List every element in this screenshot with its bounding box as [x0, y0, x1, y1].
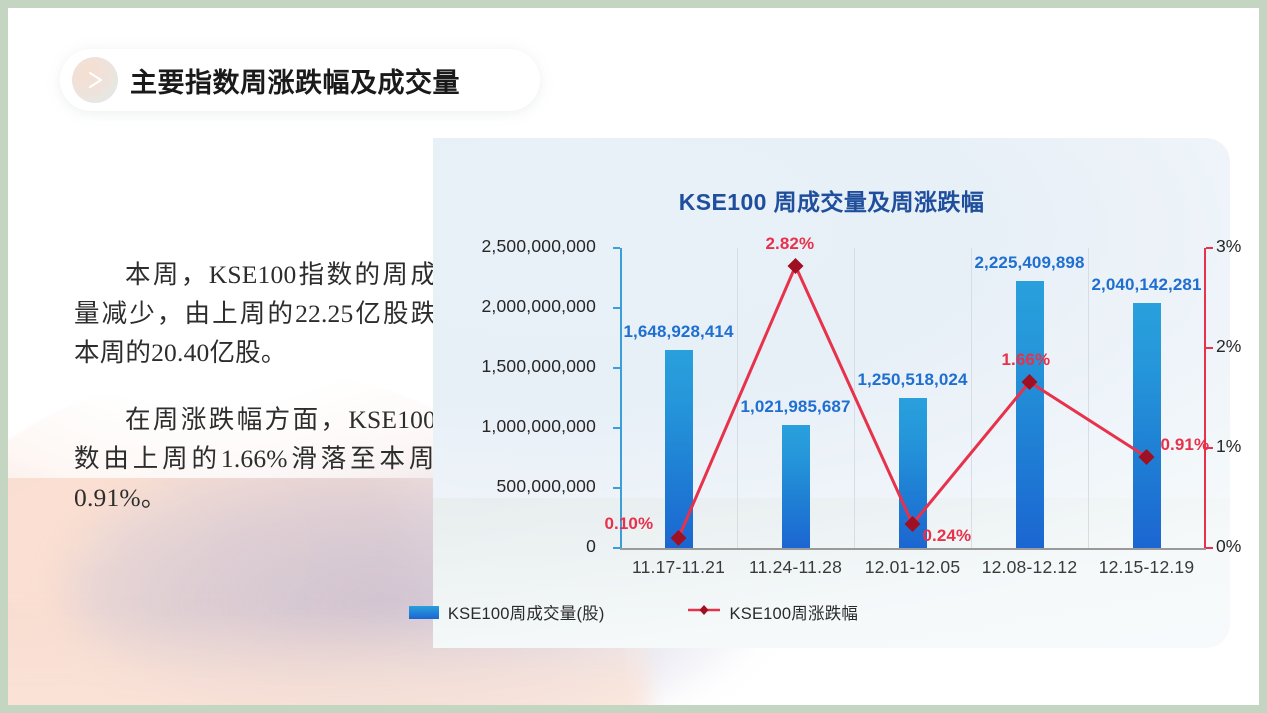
- y-axis-right-label: 2%: [1216, 336, 1241, 357]
- x-axis-category-label: 12.08-12.12: [971, 557, 1088, 578]
- line-value-label: 1.66%: [1002, 350, 1051, 370]
- y-axis-left-tick: [613, 427, 620, 429]
- line-value-label: 0.24%: [923, 526, 972, 546]
- y-axis-right-label: 3%: [1216, 236, 1241, 257]
- y-axis-left-tick: [613, 247, 620, 249]
- y-axis-left-label: 0: [8, 536, 608, 557]
- bar-value-label: 1,648,928,414: [579, 322, 779, 342]
- gridline-vertical: [971, 248, 972, 548]
- chevron-right-icon: [72, 57, 118, 103]
- y-axis-left-label: 1,500,000,000: [8, 356, 608, 377]
- y-axis-left-label: 1,000,000,000: [8, 416, 608, 437]
- y-axis-right-label: 1%: [1216, 436, 1241, 457]
- slide-title-pill: 主要指数周涨跌幅及成交量: [60, 49, 540, 111]
- legend-item-volume[interactable]: KSE100周成交量(股): [409, 600, 605, 624]
- bar-value-label: 2,225,409,898: [930, 253, 1130, 273]
- legend-item-change[interactable]: KSE100周涨跌幅: [687, 600, 859, 624]
- y-axis-left-tick: [613, 307, 620, 309]
- y-axis-left-line: [620, 248, 622, 549]
- y-axis-left-tick: [613, 547, 620, 549]
- bar-5[interactable]: [1133, 303, 1161, 548]
- line-value-label: 0.91%: [1161, 435, 1210, 455]
- x-axis-category-label: 12.01-12.05: [854, 557, 971, 578]
- slide-frame: 主要指数周涨跌幅及成交量 本周，KSE100指数的周成交量减少，由上周的22.2…: [0, 0, 1267, 713]
- x-axis-category-label: 11.24-11.28: [737, 557, 854, 578]
- x-axis-category-label: 12.15-12.19: [1088, 557, 1205, 578]
- y-axis-right-tick: [1206, 347, 1213, 349]
- chart-title: KSE100 周成交量及周涨跌幅: [433, 183, 1230, 217]
- bar-value-label: 1,250,518,024: [813, 370, 1013, 390]
- bar-value-label: 1,021,985,687: [696, 397, 896, 417]
- y-axis-left-tick: [613, 367, 620, 369]
- slide-canvas: 主要指数周涨跌幅及成交量 本周，KSE100指数的周成交量减少，由上周的22.2…: [8, 8, 1259, 705]
- y-axis-left-tick: [613, 487, 620, 489]
- y-axis-right-tick: [1206, 247, 1213, 249]
- bar-value-label: 2,040,142,281: [1047, 275, 1247, 295]
- page-title: 主要指数周涨跌幅及成交量: [130, 61, 460, 100]
- y-axis-left-label: 500,000,000: [8, 476, 608, 497]
- x-axis-category-label: 11.17-11.21: [620, 557, 737, 578]
- line-value-label: 2.82%: [766, 234, 815, 254]
- legend-label-change: KSE100周涨跌幅: [730, 600, 859, 624]
- x-axis-line: [620, 548, 1206, 550]
- bar-1[interactable]: [665, 350, 693, 548]
- y-axis-right-tick: [1206, 547, 1213, 549]
- legend-swatch-bar-icon: [409, 606, 439, 619]
- bar-2[interactable]: [782, 425, 810, 548]
- chart-legend: KSE100周成交量(股) KSE100周涨跌幅: [8, 600, 1259, 624]
- legend-label-volume: KSE100周成交量(股): [448, 600, 605, 624]
- y-axis-right-label: 0%: [1216, 536, 1241, 557]
- legend-swatch-line-icon: [687, 603, 721, 622]
- bar-4[interactable]: [1016, 281, 1044, 548]
- y-axis-left-label: 2,000,000,000: [8, 296, 608, 317]
- line-value-label: 0.10%: [605, 514, 654, 534]
- y-axis-left-label: 2,500,000,000: [8, 236, 608, 257]
